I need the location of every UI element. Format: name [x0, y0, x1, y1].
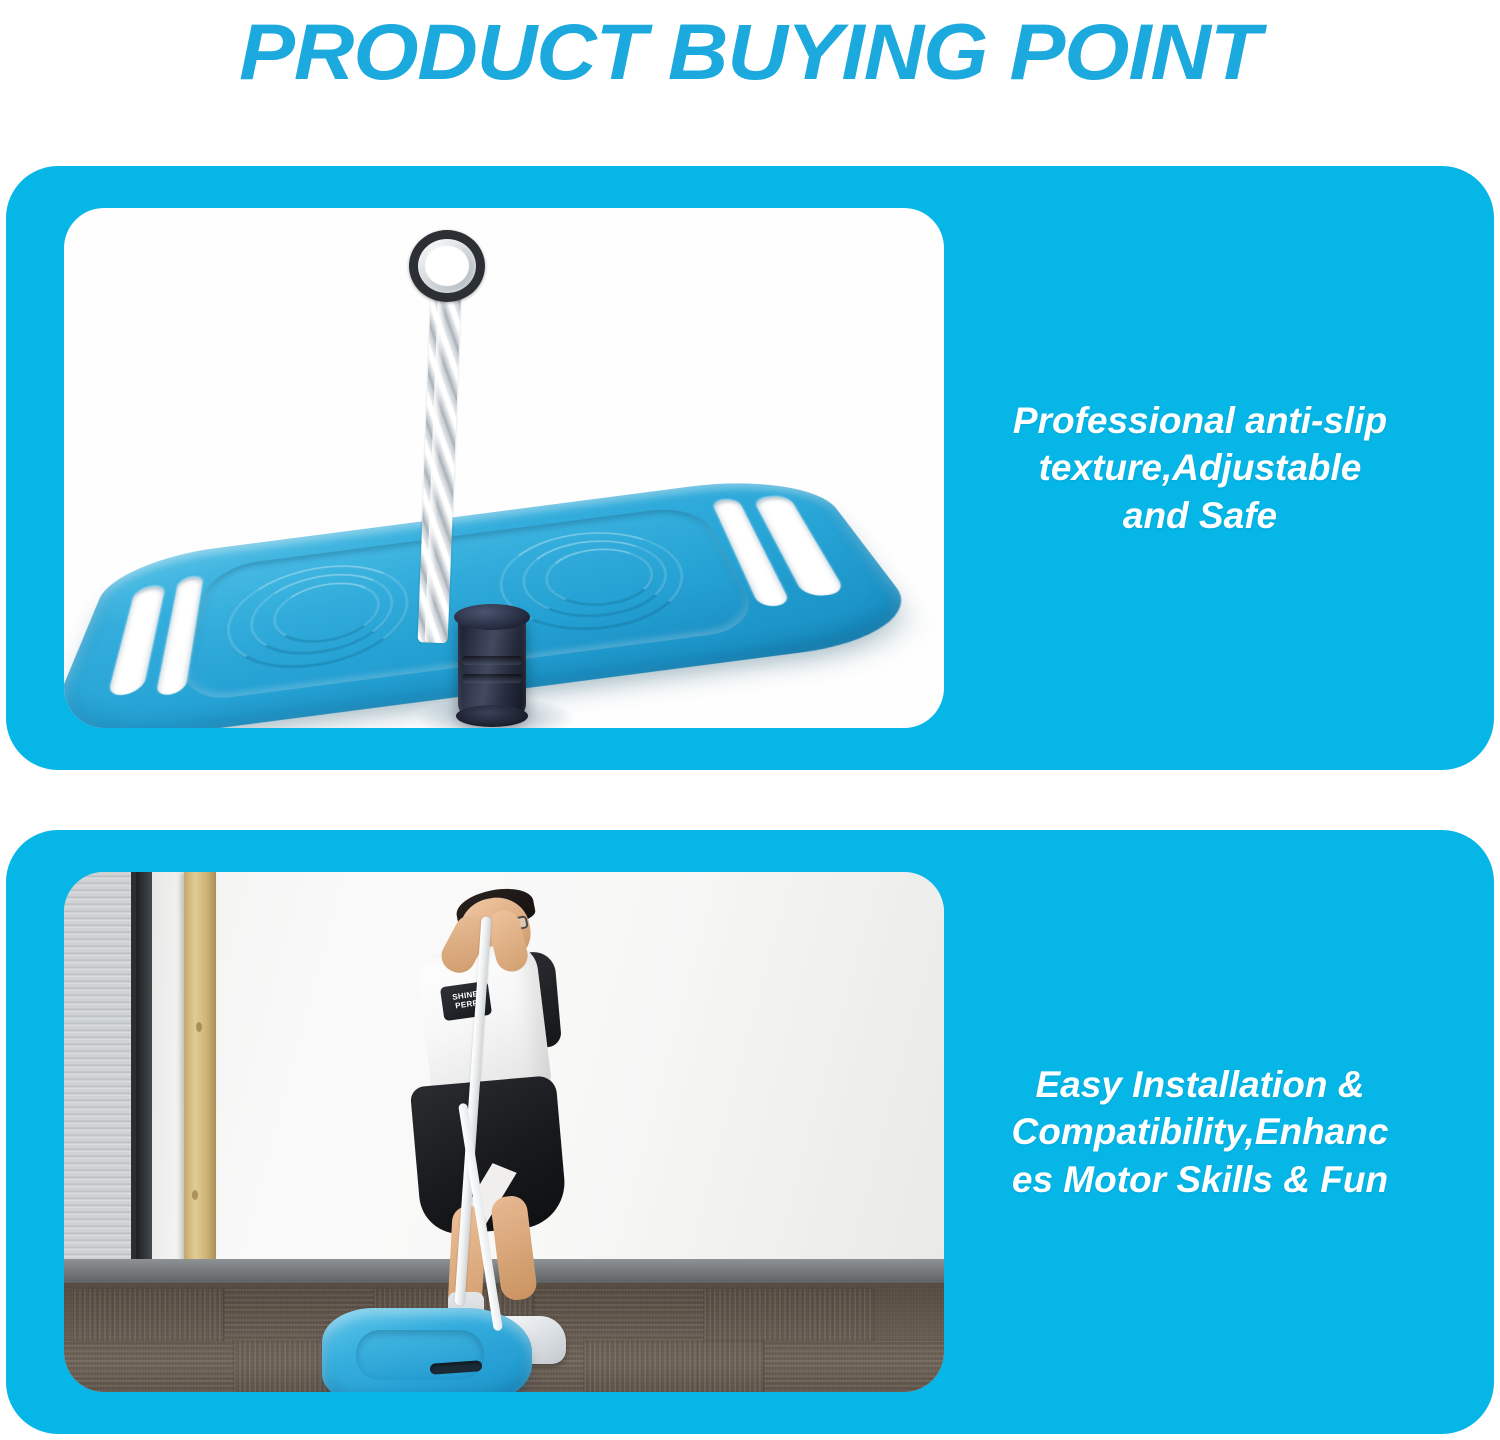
- title-bar: PRODUCT BUYING POINT: [0, 0, 1500, 102]
- carpet-tile: [764, 1341, 944, 1392]
- wooden-plank: [184, 872, 216, 1288]
- child-figure: SHINE PERF: [364, 896, 644, 1366]
- ring-inner: [425, 246, 469, 286]
- caption-line: and Safe: [1013, 492, 1387, 539]
- feature-caption-1: Professional anti-slip texture,Adjustabl…: [950, 166, 1450, 770]
- feature-caption-2: Easy Installation & Compatibility,Enhanc…: [950, 830, 1450, 1434]
- plank-knot: [196, 1022, 202, 1032]
- hub-bottom-cap: [456, 705, 528, 727]
- caption-text-2: Easy Installation & Compatibility,Enhanc…: [1008, 1061, 1393, 1203]
- carpet-tile: [74, 1289, 224, 1341]
- plank-knot: [192, 1190, 198, 1200]
- swing-board-deck: [356, 1330, 484, 1380]
- lifestyle-photo-child-swinging: SHINE PERF: [64, 872, 944, 1392]
- door-frame: [136, 872, 152, 1283]
- board-slot: [107, 584, 166, 697]
- hub-band: [462, 656, 522, 665]
- page-title: PRODUCT BUYING POINT: [240, 12, 1261, 91]
- caption-line: texture,Adjustable: [1013, 444, 1387, 491]
- hub-band: [462, 674, 522, 683]
- metal-ring-icon: [409, 230, 485, 302]
- caption-line: Professional anti-slip: [1013, 397, 1387, 444]
- rope-hub: [458, 612, 526, 718]
- hub-top-cap: [454, 604, 530, 630]
- product-photo-swing-seat: [64, 208, 944, 728]
- caption-text-1: Professional anti-slip texture,Adjustabl…: [1009, 397, 1391, 539]
- feature-panel-2: SHINE PERF: [6, 830, 1494, 1434]
- feature-panel-1: Professional anti-slip texture,Adjustabl…: [6, 166, 1494, 770]
- carpet-tile: [704, 1289, 874, 1341]
- caption-line: Compatibility,Enhanc: [1012, 1108, 1389, 1155]
- carpet-tile: [64, 1341, 234, 1392]
- rope-highlight: [425, 268, 447, 643]
- room-scene: SHINE PERF: [64, 872, 944, 1392]
- window-blinds: [64, 872, 136, 1283]
- caption-line: Easy Installation &: [1012, 1061, 1389, 1108]
- caption-line: es Motor Skills & Fun: [1012, 1156, 1389, 1203]
- swing-seat-illustration: [64, 208, 944, 728]
